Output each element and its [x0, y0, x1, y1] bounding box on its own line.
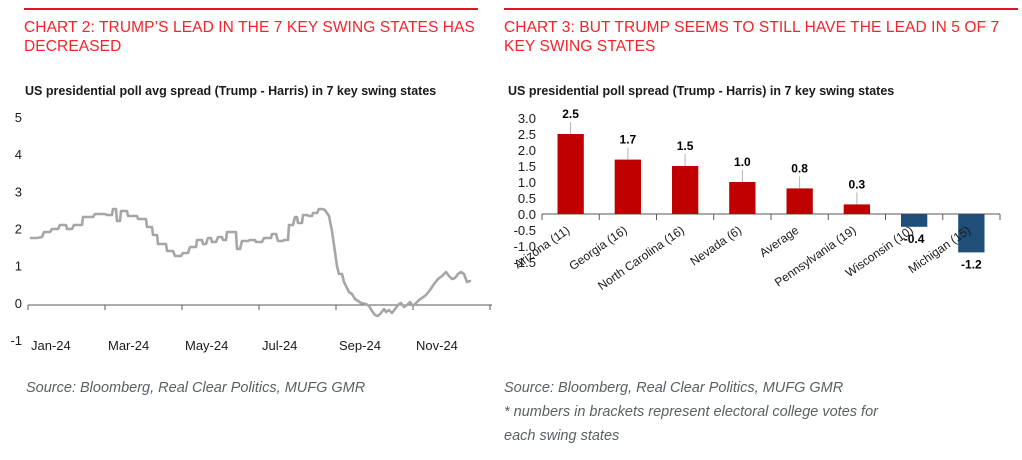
chart3-panel: CHART 3: BUT TRUMP SEEMS TO STILL HAVE T… [500, 0, 1022, 460]
line-y-tick-label: -1 [10, 333, 22, 348]
bar-6 [844, 204, 870, 214]
bar-value-label: 2.5 [562, 107, 579, 121]
bar-chart-x-axis [542, 214, 1000, 220]
line-x-tick-label: Jul-24 [262, 338, 297, 353]
bar-5 [787, 188, 813, 214]
bar-value-label: 1.0 [734, 155, 751, 169]
chart2-title: CHART 2: TRUMP’S LEAD IN THE 7 KEY SWING… [24, 18, 494, 56]
bar-2 [615, 160, 641, 214]
bar-category-label: Average [757, 223, 802, 260]
bar-3 [672, 166, 698, 214]
bar-y-tick-label: 3.0 [518, 111, 536, 126]
bar-chart-plot: 3.02.52.01.51.00.50.0-0.5-1.0-1.5 2.51.7… [500, 104, 1022, 372]
line-chart-x-tick-labels: Jan-24Mar-24May-24Jul-24Sep-24Nov-24 [31, 338, 458, 353]
chart3-footnote-line2: each swing states [504, 424, 1019, 448]
bar-y-tick-label: 0.5 [518, 191, 536, 206]
bar-chart-svg: 3.02.52.01.51.00.50.0-0.5-1.0-1.5 2.51.7… [500, 104, 1022, 372]
bar-value-label: -1.2 [961, 257, 982, 271]
bar-value-label: 0.3 [849, 177, 866, 191]
panel-top-rule-right [504, 8, 1018, 10]
chart2-subtitle: US presidential poll avg spread (Trump -… [25, 84, 436, 98]
bar-value-label: 1.5 [677, 139, 694, 153]
chart3-source-line: Source: Bloomberg, Real Clear Politics, … [504, 376, 1019, 400]
chart2-panel: CHART 2: TRUMP’S LEAD IN THE 7 KEY SWING… [0, 0, 496, 460]
chart3-subtitle: US presidential poll spread (Trump - Har… [508, 84, 894, 98]
line-x-tick-label: Nov-24 [416, 338, 458, 353]
line-x-tick-label: Mar-24 [108, 338, 149, 353]
poll-spread-line [31, 209, 470, 316]
line-chart-svg: 543210-1 Jan-24Mar-24May-24Jul-24Sep-24N… [0, 104, 496, 354]
line-y-tick-label: 0 [15, 296, 22, 311]
line-x-tick-label: May-24 [185, 338, 228, 353]
bar-y-tick-label: -0.5 [514, 223, 536, 238]
line-y-tick-label: 3 [15, 184, 22, 199]
bar-y-tick-label: 2.5 [518, 127, 536, 142]
line-y-tick-label: 5 [15, 110, 22, 125]
chart3-source: Source: Bloomberg, Real Clear Politics, … [504, 376, 1019, 448]
bar-chart-category-labels: Arizona (11)Georgia (16)North Carolina (… [511, 223, 973, 293]
line-y-tick-label: 2 [15, 222, 22, 237]
chart3-footnote-line1: * numbers in brackets represent electora… [504, 400, 1019, 424]
line-x-tick-label: Sep-24 [339, 338, 381, 353]
line-chart-plot: 543210-1 Jan-24Mar-24May-24Jul-24Sep-24N… [0, 104, 496, 354]
line-y-tick-label: 1 [15, 259, 22, 274]
line-chart-x-axis [28, 305, 492, 310]
chart2-source: Source: Bloomberg, Real Clear Politics, … [26, 376, 365, 400]
bar-y-tick-label: 1.0 [518, 175, 536, 190]
bar-1 [558, 134, 584, 214]
bar-value-label: 1.7 [620, 133, 637, 147]
bar-y-tick-label: 2.0 [518, 143, 536, 158]
panel-top-rule-left [24, 8, 478, 10]
bar-4 [729, 182, 755, 214]
bar-y-tick-label: 1.5 [518, 159, 536, 174]
bar-value-label: 0.8 [791, 161, 808, 175]
bar-y-tick-label: 0.0 [518, 207, 536, 222]
bar-category-label: Nevada (6) [687, 223, 744, 269]
line-chart-y-axis: 543210-1 [10, 110, 22, 348]
line-x-tick-label: Jan-24 [31, 338, 71, 353]
chart3-title: CHART 3: BUT TRUMP SEEMS TO STILL HAVE T… [504, 18, 1004, 56]
line-y-tick-label: 4 [15, 147, 22, 162]
